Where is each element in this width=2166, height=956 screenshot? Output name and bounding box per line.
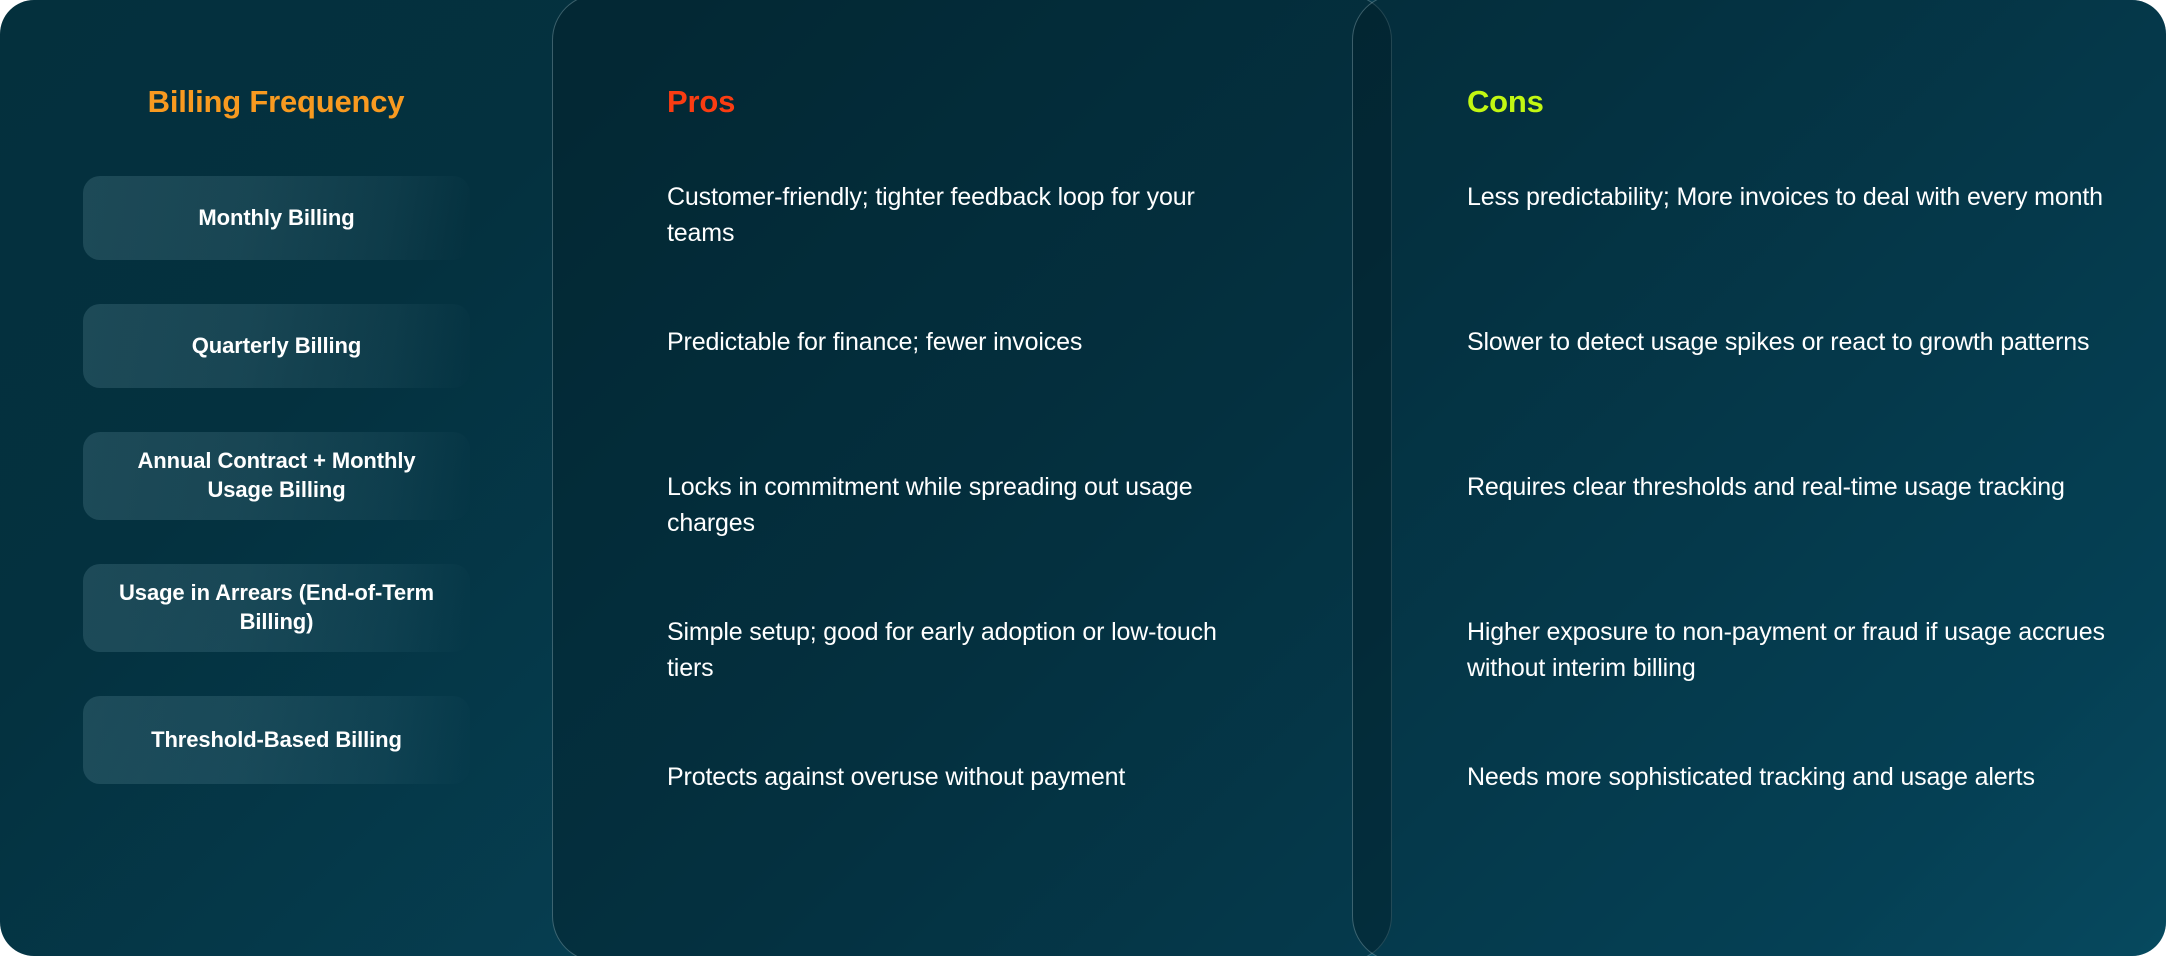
pros-item: Protects against overuse without payment xyxy=(667,759,1125,795)
column-header-pros: Pros xyxy=(667,84,735,120)
cons-item: Higher exposure to non-payment or fraud … xyxy=(1467,614,2106,686)
billing-frequency-pill[interactable]: Usage in Arrears (End-of-Term Billing) xyxy=(83,564,470,652)
column-header-cons: Cons xyxy=(1467,84,1544,120)
cons-item: Less predictability; More invoices to de… xyxy=(1467,179,2103,215)
pros-item: Customer-friendly; tighter feedback loop… xyxy=(667,179,1267,251)
billing-frequency-pill[interactable]: Annual Contract + Monthly Usage Billing xyxy=(83,432,470,520)
pros-item: Locks in commitment while spreading out … xyxy=(667,469,1267,541)
billing-frequency-pill[interactable]: Monthly Billing xyxy=(83,176,470,260)
comparison-board: Billing Frequency Monthly Billing Quarte… xyxy=(0,0,2166,956)
cons-item: Slower to detect usage spikes or react t… xyxy=(1467,324,2089,360)
pros-item: Predictable for finance; fewer invoices xyxy=(667,324,1082,360)
cons-item: Requires clear thresholds and real-time … xyxy=(1467,469,2065,505)
billing-frequency-pill-stack: Monthly Billing Quarterly Billing Annual… xyxy=(83,176,552,828)
comparison-columns: Billing Frequency Monthly Billing Quarte… xyxy=(0,0,2166,956)
billing-frequency-pill[interactable]: Threshold-Based Billing xyxy=(83,696,470,784)
billing-frequency-pill[interactable]: Quarterly Billing xyxy=(83,304,470,388)
column-pros: Pros Customer-friendly; tighter feedback… xyxy=(552,0,1352,956)
cons-content: Cons Less predictability; More invoices … xyxy=(1352,0,2166,956)
column-header-billing-frequency: Billing Frequency xyxy=(0,84,552,120)
billing-frequency-content: Billing Frequency Monthly Billing Quarte… xyxy=(0,0,552,956)
pros-content: Pros Customer-friendly; tighter feedback… xyxy=(552,0,1352,956)
pros-item: Simple setup; good for early adoption or… xyxy=(667,614,1267,686)
column-cons: Cons Less predictability; More invoices … xyxy=(1352,0,2166,956)
cons-item: Needs more sophisticated tracking and us… xyxy=(1467,759,2035,795)
column-billing-frequency: Billing Frequency Monthly Billing Quarte… xyxy=(0,0,552,956)
